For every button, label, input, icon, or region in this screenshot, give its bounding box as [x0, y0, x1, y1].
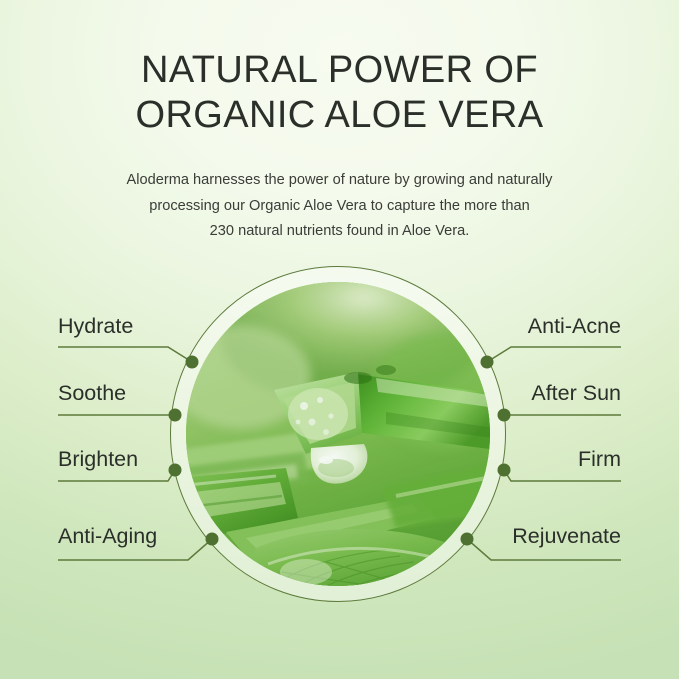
- subtitle-line-1: Aloderma harnesses the power of nature b…: [88, 168, 591, 194]
- benefit-label-firm: Firm: [578, 449, 621, 471]
- benefit-label-soothe: Soothe: [58, 383, 126, 405]
- page-title: NATURAL POWER OF ORGANIC ALOE VERA: [0, 48, 679, 138]
- page-title-line-2: ORGANIC ALOE VERA: [0, 93, 679, 138]
- benefit-label-after-sun: After Sun: [531, 383, 621, 405]
- connector-firm: [504, 470, 621, 481]
- page-title-line-1: NATURAL POWER OF: [141, 49, 538, 91]
- aloe-vera-photo: [186, 282, 490, 586]
- aloe-vera-infographic: NATURAL POWER OF ORGANIC ALOE VERA Alode…: [0, 0, 679, 679]
- benefit-label-rejuvenate: Rejuvenate: [512, 526, 621, 548]
- subtitle-line-3: 230 natural nutrients found in Aloe Vera…: [88, 219, 591, 245]
- benefit-label-hydrate: Hydrate: [58, 316, 133, 338]
- benefit-label-brighten: Brighten: [58, 449, 138, 471]
- center-circle-graphic: [170, 266, 506, 602]
- benefit-label-anti-acne: Anti-Acne: [528, 316, 621, 338]
- connector-anti-acne: [487, 347, 621, 362]
- connector-brighten: [58, 470, 175, 481]
- subtitle-paragraph: Aloderma harnesses the power of nature b…: [88, 168, 591, 245]
- benefit-label-anti-aging: Anti-Aging: [58, 526, 157, 548]
- subtitle-line-2: processing our Organic Aloe Vera to capt…: [88, 194, 591, 220]
